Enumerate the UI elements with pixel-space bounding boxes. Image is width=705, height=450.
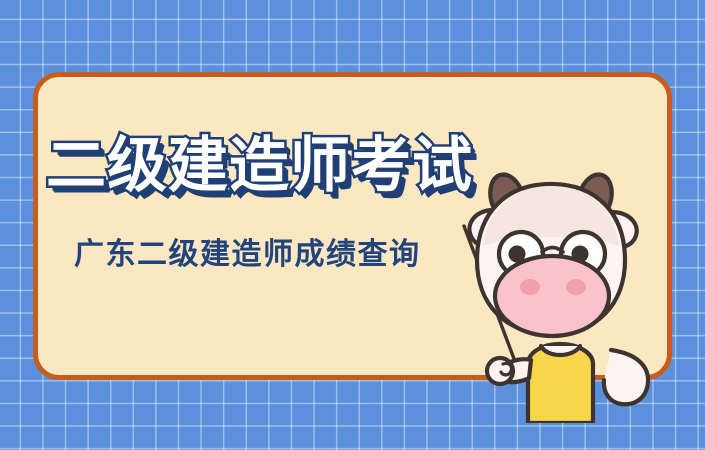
page-title: 二级建造师考试 [46,130,473,202]
mascot-snout [495,256,609,336]
mascot-right-nostril [566,279,586,295]
cow-mascot-icon [443,168,678,423]
mascot-right-arm [604,350,648,404]
mascot-collar [541,346,580,355]
mascot-left-nostril [520,279,540,295]
page-subtitle: 广东二级建造师成绩查询 [74,236,421,274]
banner-root: 二级建造师考试 广东二级建造师成绩查询 [0,0,705,450]
